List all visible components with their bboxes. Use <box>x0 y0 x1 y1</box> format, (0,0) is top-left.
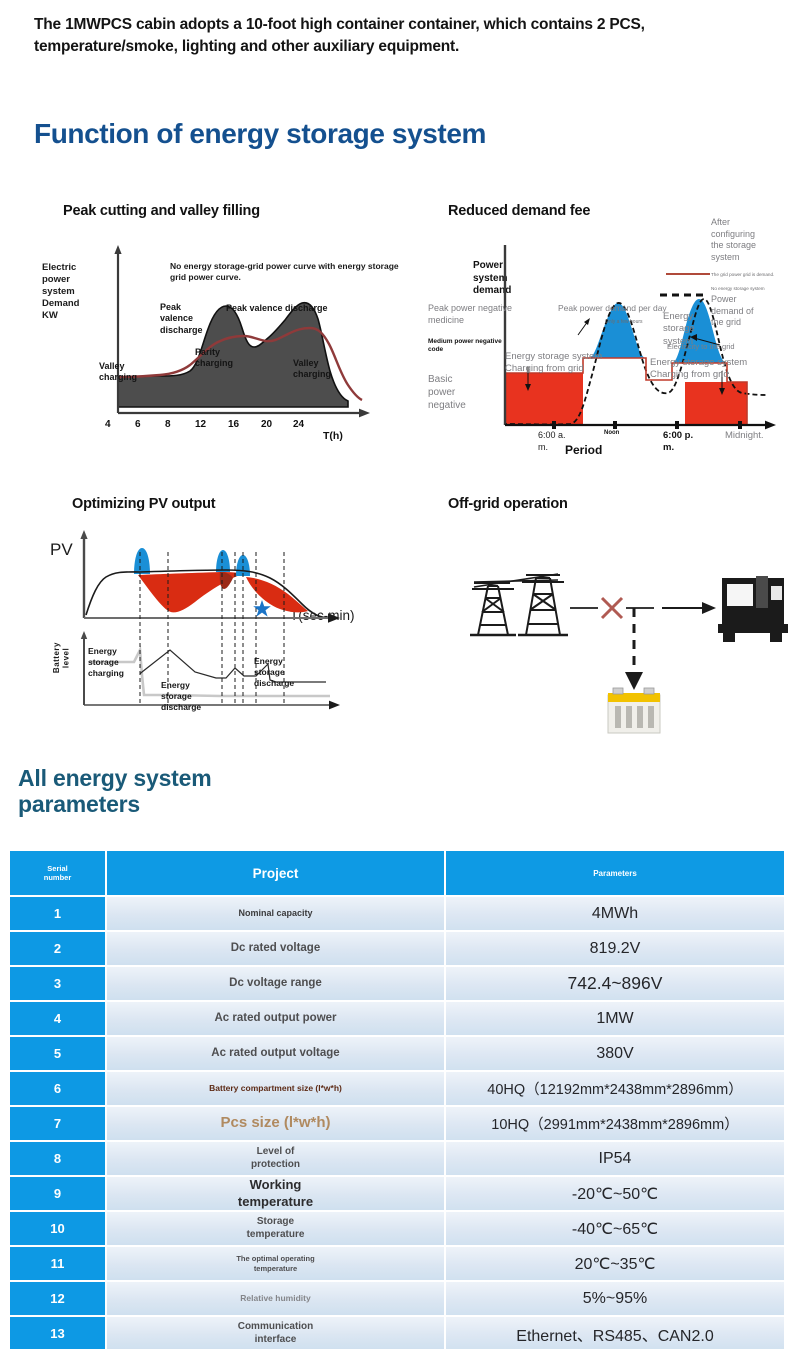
cell-value: 1MW <box>446 1002 784 1035</box>
machine-load-icon <box>718 576 788 642</box>
cell-value: -20℃~50℃ <box>446 1177 784 1210</box>
cell-project: Nominal capacity <box>107 897 444 930</box>
chart2-legend-0-title: After configuring the storage system <box>711 217 756 264</box>
cell-value: -40℃~65℃ <box>446 1212 784 1245</box>
chart3-fill-surplus-3 <box>236 555 250 576</box>
chart2-x-arrow <box>765 421 776 430</box>
chart2-xtick-2: 6:00 p. m. <box>663 430 693 455</box>
chart3-fill-surplus-1 <box>134 548 150 574</box>
chart2-label-charging-from-grid-right: Energy storage system Charging from grid <box>650 357 747 382</box>
chart3-label-energy-storage-discharge-1: Energy storage discharge <box>161 680 201 713</box>
intro-paragraph: The 1MWPCS cabin adopts a 10-foot high c… <box>34 14 754 59</box>
chart1-xtick-1: 6 <box>135 419 141 430</box>
chart1-label-parity-charging: Parity charging <box>195 347 233 370</box>
cell-serial: 5 <box>10 1037 105 1070</box>
table-header-parameters: Parameters <box>446 851 784 895</box>
cell-serial: 7 <box>10 1107 105 1140</box>
table-row: 6 Battery compartment size (l*w*h) 40HQ（… <box>10 1072 784 1105</box>
cell-value: 10HQ（2991mm*2438mm*2896mm） <box>446 1107 784 1140</box>
cell-value: 20℃~35℃ <box>446 1247 784 1280</box>
cell-project: Level of protection <box>107 1142 444 1175</box>
chart2-tick-0 <box>552 421 556 429</box>
cell-serial: 11 <box>10 1247 105 1280</box>
page-title-function: Function of energy storage system <box>34 118 486 150</box>
cell-project: Ac rated output power <box>107 1002 444 1035</box>
chart1-x-arrow <box>359 409 370 418</box>
cell-value: 40HQ（12192mm*2438mm*2896mm） <box>446 1072 784 1105</box>
chart1-y-arrow <box>114 245 121 254</box>
table-row: 13 Communication interface Ethernet、RS48… <box>10 1317 784 1349</box>
table-header-project: Project <box>107 851 444 895</box>
cell-serial: 6 <box>10 1072 105 1105</box>
table-row: 4 Ac rated output power 1MW <box>10 1002 784 1035</box>
cell-project: Pcs size (l*w*h) <box>107 1107 444 1140</box>
chart1-xtick-0: 4 <box>105 419 111 430</box>
chart2-tick-3 <box>738 421 742 429</box>
table-header-row: Serial number Project Parameters <box>10 851 784 895</box>
off-grid-arrow-battery-head <box>625 672 643 690</box>
chart2-label-peak-power-negative: Peak power negative medicine <box>428 303 512 326</box>
table-row: 9 Working temperature -20℃~50℃ <box>10 1177 784 1210</box>
chart3-batt-x-arrow <box>329 701 340 710</box>
chart-optimizing-pv: Optimizing PV output PV T(sec-min) Batte… <box>30 490 420 735</box>
chart1-xtick-4: 16 <box>228 419 239 430</box>
cell-value: 5%~95% <box>446 1282 784 1315</box>
chart3-pv-x-arrow <box>328 613 340 623</box>
page-title-parameters: All energy system parameters <box>18 766 338 818</box>
chart2-label-medium-power-negative: Medium power negative code <box>428 338 502 355</box>
chart2-legend-1-sub: No energy storage system <box>711 286 765 292</box>
cell-serial: 1 <box>10 897 105 930</box>
cell-serial: 10 <box>10 1212 105 1245</box>
chart1-label-valley-charging-left: Valley charging <box>99 361 137 384</box>
disconnect-cross-icon <box>602 598 622 618</box>
table-header-serial: Serial number <box>10 851 105 895</box>
cell-serial: 12 <box>10 1282 105 1315</box>
cell-project: Relative humidity <box>107 1282 444 1315</box>
chart3-label-energy-storage-charging: Energy storage charging <box>88 646 124 679</box>
parameters-table: Serial number Project Parameters 1 Nomin… <box>8 849 786 1349</box>
chart2-x-axis-title: Period <box>565 443 602 457</box>
chart2-fill-charge-left <box>505 373 583 425</box>
chart2-xtick-3: Midnight. <box>725 430 764 442</box>
cell-project: Communication interface <box>107 1317 444 1349</box>
cell-project: Dc rated voltage <box>107 932 444 965</box>
table-row: 1 Nominal capacity 4MWh <box>10 897 784 930</box>
cell-project: Ac rated output voltage <box>107 1037 444 1070</box>
cell-value: Ethernet、RS485、CAN2.0 <box>446 1317 784 1349</box>
chart2-legend-1-title: Power demand of the grid <box>711 294 754 329</box>
cell-serial: 8 <box>10 1142 105 1175</box>
chart1-xtick-3: 12 <box>195 419 206 430</box>
cell-project: Storage temperature <box>107 1212 444 1245</box>
chart2-label-basic-power-negative: Basic power negative <box>428 373 466 412</box>
page-root: The 1MWPCS cabin adopts a 10-foot high c… <box>0 0 790 1349</box>
cell-serial: 9 <box>10 1177 105 1210</box>
chart1-xtick-6: 24 <box>293 419 304 430</box>
chart2-label-electricity-to-the-grid: Electricity to the grid <box>667 342 735 352</box>
chart3-label-energy-storage-discharge-2: Energy storage discharge <box>254 656 294 689</box>
diagram-off-grid-operation: Off-grid operation <box>430 490 790 735</box>
chart1-xtick-2: 8 <box>165 419 171 430</box>
chart-peak-cutting: Peak cutting and valley filling Electric… <box>30 195 420 460</box>
chart-reduced-demand-fee: Reduced demand fee Power system demand <box>420 195 790 460</box>
table-row: 5 Ac rated output voltage 380V <box>10 1037 784 1070</box>
chart3-fill-surplus-2 <box>216 550 230 572</box>
cell-project: Working temperature <box>107 1177 444 1210</box>
cell-serial: 4 <box>10 1002 105 1035</box>
off-grid-diagram <box>430 490 790 735</box>
cell-project: Dc voltage range <box>107 967 444 1000</box>
chart3-plot <box>30 490 420 735</box>
cell-value: 742.4~896V <box>446 967 784 1000</box>
cell-value: 380V <box>446 1037 784 1070</box>
cell-serial: 2 <box>10 932 105 965</box>
chart2-label-only-a-few-hours: Only a few hours <box>605 319 643 326</box>
chart1-x-axis-label: T(h) <box>323 430 343 442</box>
table-row: 3 Dc voltage range 742.4~896V <box>10 967 784 1000</box>
chart2-tick-1 <box>613 421 617 429</box>
chart2-leader-peak-arrow <box>584 318 590 325</box>
chart3-pv-y-arrow <box>80 530 87 539</box>
chart2-legend-0-sub: The grid power grid is demand. <box>711 272 774 278</box>
cell-project: The optimal operating temperature <box>107 1247 444 1280</box>
chart1-plot <box>30 195 420 460</box>
cell-value: 819.2V <box>446 932 784 965</box>
battery-storage-icon <box>608 688 660 733</box>
table-row: 12 Relative humidity 5%~95% <box>10 1282 784 1315</box>
cell-serial: 13 <box>10 1317 105 1349</box>
chart3-batt-y-arrow <box>81 631 87 639</box>
chart2-xtick-0: 6:00 a. m. <box>538 430 566 453</box>
table-row: 8 Level of protection IP54 <box>10 1142 784 1175</box>
chart2-xtick-1: Noon <box>604 430 619 438</box>
chart2-tick-2 <box>675 421 679 429</box>
cell-value: IP54 <box>446 1142 784 1175</box>
chart2-label-peak-power-demand-per-day: Peak power demand per day <box>558 303 667 314</box>
chart1-label-valley-charging-right: Valley charging <box>293 358 331 381</box>
chart2-fill-charge-right <box>685 382 747 425</box>
cell-serial: 3 <box>10 967 105 1000</box>
table-row: 10 Storage temperature -40℃~65℃ <box>10 1212 784 1245</box>
cell-project: Battery compartment size (l*w*h) <box>107 1072 444 1105</box>
chart1-xtick-5: 20 <box>261 419 272 430</box>
chart2-label-charging-from-grid-left: Energy storage system Charging from grid <box>505 351 602 376</box>
table-row: 2 Dc rated voltage 819.2V <box>10 932 784 965</box>
table-row: 11 The optimal operating temperature 20℃… <box>10 1247 784 1280</box>
transmission-tower-icon <box>470 574 568 635</box>
chart1-label-peak-valence-discharge-2: Peak valence discharge <box>226 303 328 314</box>
off-grid-arrow-load-head <box>702 602 716 614</box>
chart1-label-peak-valence-discharge-1: Peak valence discharge <box>160 302 203 336</box>
table-row: 7 Pcs size (l*w*h) 10HQ（2991mm*2438mm*28… <box>10 1107 784 1140</box>
cell-value: 4MWh <box>446 897 784 930</box>
